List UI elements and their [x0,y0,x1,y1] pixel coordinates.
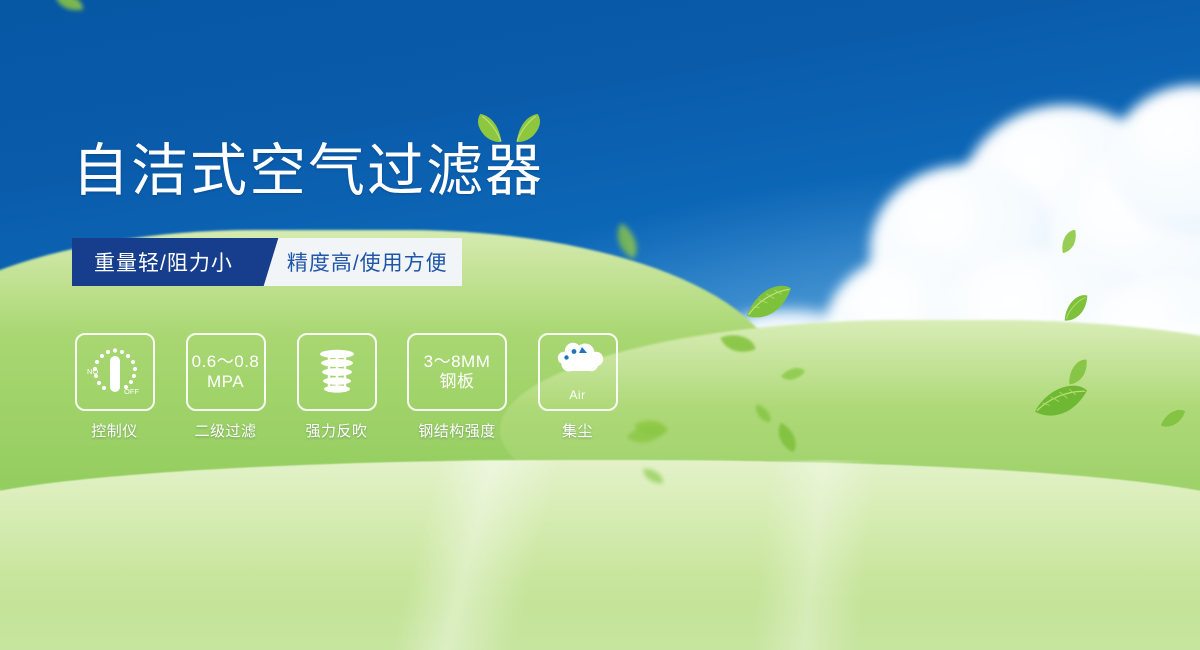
page-title: 自洁式空气过滤器 [72,143,544,200]
steel-value-line1: 3～8MM [424,352,491,372]
subtitle-badge-left: 重量轻/阻力小 [72,238,253,286]
feature-label: 钢结构强度 [418,420,496,441]
feature-icon-box: NO OFF [75,333,155,411]
feature-label: 控制仪 [91,420,138,441]
gauge-icon: NO OFF [82,342,148,402]
subtitle-badge-right: 精度高/使用方便 [253,238,462,286]
field-light-streaks [0,460,1200,650]
feature-label: 二级过滤 [194,420,256,441]
feature-icon-box: Air [538,333,618,411]
grass-field [0,435,1200,650]
feature-list: NO OFF 控制仪 0.6～0.8 MPA 二级过滤 [72,333,620,441]
feature-item-dust-collection[interactable]: Air 集尘 [535,333,620,441]
air-caption: Air [569,385,585,405]
gauge-off-label: OFF [124,387,139,396]
foreground-field [0,460,1200,650]
feature-icon-box [297,333,377,411]
feature-icon-box: 0.6～0.8 MPA [186,333,266,411]
feature-icon-box: 3～8MM 钢板 [407,333,507,411]
pressure-value-line2: MPA [207,372,244,392]
feature-item-backblow[interactable]: 强力反吹 [294,333,379,441]
feature-label: 集尘 [562,420,593,441]
subtitle-bar: 重量轻/阻力小 精度高/使用方便 [72,238,462,286]
cloud-air-icon [547,340,609,384]
subtitle-right-text: 精度高/使用方便 [287,247,448,277]
feature-item-controller[interactable]: NO OFF 控制仪 [72,333,157,441]
coil-filter-icon [311,344,363,400]
subtitle-left-text: 重量轻/阻力小 [94,247,233,277]
feature-item-two-stage-filter[interactable]: 0.6～0.8 MPA 二级过滤 [183,333,268,441]
gauge-no-label: NO [87,367,98,376]
feature-label: 强力反吹 [305,420,367,441]
product-hero-banner: 自洁式空气过滤器 重量轻/阻力小 精度高/使用方便 [0,0,1200,650]
pressure-value-line1: 0.6～0.8 [192,352,260,372]
steel-value-line2: 钢板 [440,372,475,392]
feature-item-steel-strength[interactable]: 3～8MM 钢板 钢结构强度 [405,333,509,441]
